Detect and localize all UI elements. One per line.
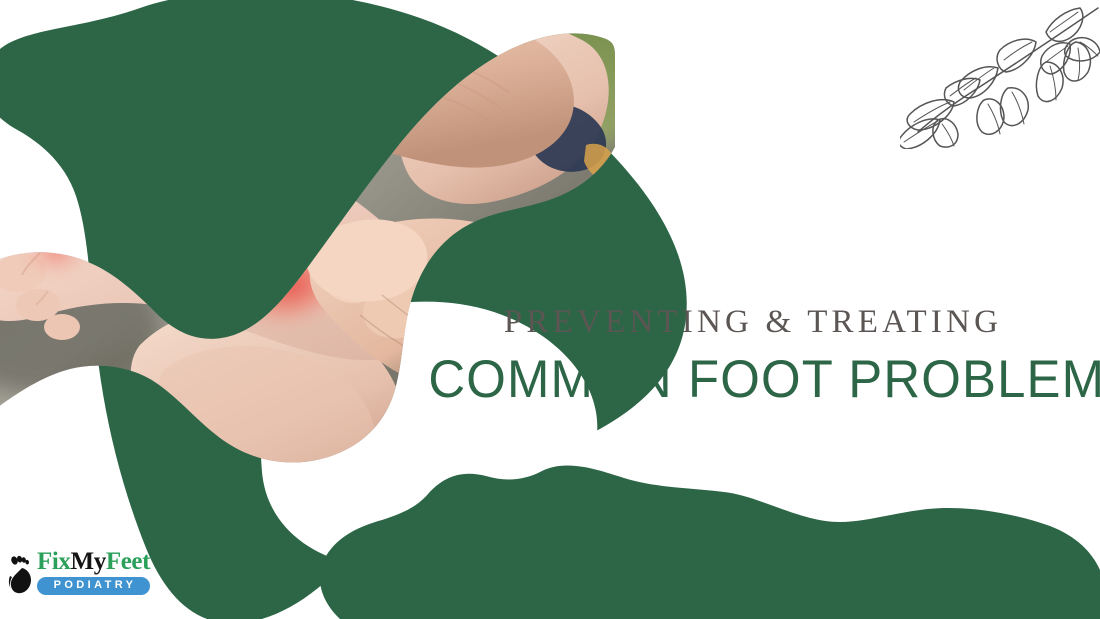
headline-block: PREVENTING & TREATING COMMON FOOT PROBLE… [415, 305, 1085, 407]
hero-photo [0, 0, 615, 515]
logo-row: FixMyFeet PODIATRY [8, 549, 153, 595]
logo-word-fix: Fix [37, 548, 71, 575]
hero-photo-svg [0, 0, 615, 515]
page-title: COMMON FOOT PROBLEMS [428, 352, 1071, 408]
promo-banner: PREVENTING & TREATING COMMON FOOT PROBLE… [0, 0, 1100, 619]
logo-word-feet: Feet [106, 548, 150, 575]
logo-tagline: PODIATRY [37, 577, 150, 595]
logo-wordmark: FixMyFeet [37, 549, 150, 574]
brand-logo[interactable]: FixMyFeet PODIATRY [8, 549, 153, 605]
leaf-branch-icon [900, 4, 1100, 149]
logo-word-my: My [71, 548, 106, 575]
eyebrow-text: PREVENTING & TREATING [415, 305, 1085, 340]
footprint-icon [8, 555, 34, 595]
logo-text-column: FixMyFeet PODIATRY [37, 549, 150, 595]
